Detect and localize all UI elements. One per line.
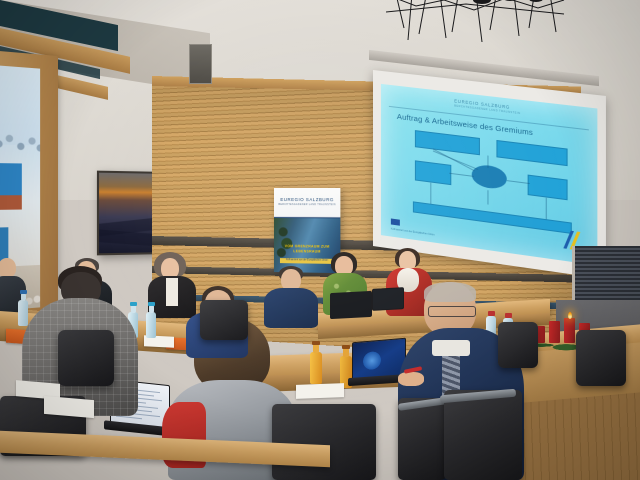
office-chair: [444, 390, 522, 480]
laptop-screen: [330, 291, 372, 319]
office-chair: [576, 330, 626, 386]
blouse: [166, 278, 178, 306]
diagram-box: [415, 130, 480, 155]
eu-flag-icon: [391, 218, 400, 225]
wall-speaker-icon: [189, 44, 212, 84]
diagram-base-bar: [413, 201, 572, 234]
hand: [398, 372, 424, 386]
outdoor-trees: [0, 124, 40, 164]
diagram-center-oval: [472, 163, 507, 190]
candle-flame-icon: [568, 312, 572, 319]
advent-candle: [549, 321, 560, 343]
office-chair: [398, 398, 446, 480]
diagram-box: [528, 175, 568, 201]
hair: [424, 282, 476, 302]
diagram-connector: [507, 180, 530, 184]
desktop-wallpaper: [363, 351, 381, 371]
banner-logo-text: EUREGIO SALZBURG: [280, 197, 333, 202]
metal-wall-sculpture-icon: [386, 0, 566, 46]
office-chair: [200, 300, 248, 340]
slide-footer: Kofinanziert von der Europäischen Union: [391, 227, 435, 236]
office-chair: [498, 322, 538, 368]
dress-shirt-collar: [432, 340, 470, 356]
office-chair: [58, 330, 114, 386]
diagram-box: [496, 140, 567, 166]
eyeglasses-icon: [428, 306, 476, 317]
head: [0, 258, 16, 278]
banner-logo-subtitle: BERCHTESGADENER LAND TRAUNSTEIN: [274, 203, 340, 206]
diagram-connector: [546, 198, 547, 221]
presentation-slide: EUREGIO SALZBURG BERCHTESGADENER LAND TR…: [381, 84, 597, 266]
diagram-connector: [488, 190, 489, 204]
office-chair: [272, 404, 376, 480]
paper-sheet: [296, 383, 344, 399]
diagram-connector: [488, 156, 489, 168]
banner-logo: EUREGIO SALZBURG BERCHTESGADENER LAND TR…: [274, 197, 340, 206]
photo-scene: EUREGIO SALZBURG BERCHTESGADENER LAND TR…: [0, 0, 640, 480]
outdoor-building-blue: [0, 163, 22, 195]
slide-diagram: [413, 130, 570, 236]
slide-logo: EUREGIO SALZBURG BERCHTESGADENER LAND TR…: [454, 98, 520, 115]
diagram-box: [415, 160, 451, 185]
outdoor-building-roof: [0, 195, 22, 210]
advent-candle: [564, 318, 575, 343]
diagram-connector: [431, 183, 432, 205]
diagram-connector: [449, 173, 474, 177]
